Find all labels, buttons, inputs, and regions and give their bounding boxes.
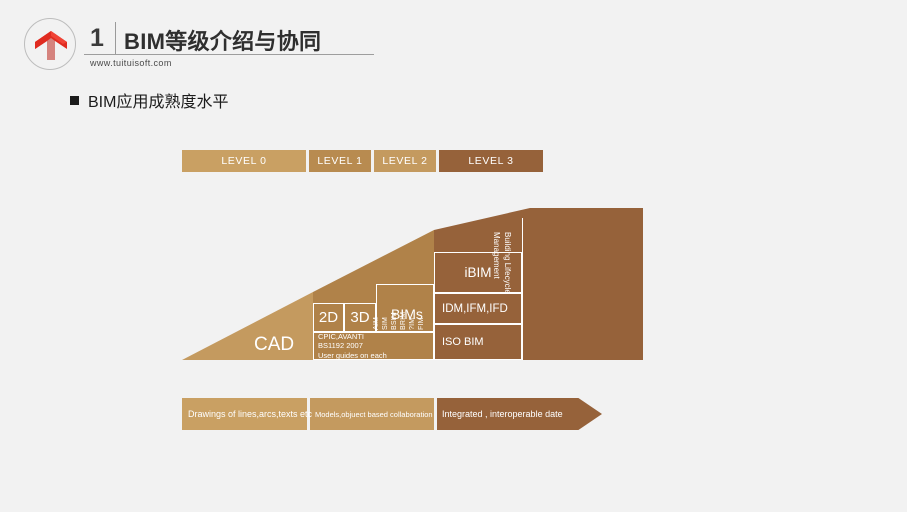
cell-2d[interactable]: 2D xyxy=(313,303,344,332)
progression-arrow: Drawings of lines,arcs,texts etc Models,… xyxy=(182,398,602,430)
notes-line-3: User guides on each xyxy=(318,351,433,360)
header-number: 1 xyxy=(90,24,104,53)
header-rule xyxy=(84,54,374,55)
maturity-ramp-diagram: CAD 2D 3D AIM SIM BSIM BRIM ?IM FIM BIMs… xyxy=(182,208,644,360)
level-bar-0-label: LEVEL 0 xyxy=(221,155,266,167)
building-lifecycle-management-label: Building Lifecycle Management xyxy=(490,232,512,342)
cad-label: CAD xyxy=(254,334,294,356)
header-divider xyxy=(115,22,116,54)
level-bar-2[interactable]: LEVEL 2 xyxy=(374,150,436,172)
blm-line-2: Management xyxy=(490,232,501,342)
arrow-segment-2-label: Integrated , interoperable date xyxy=(442,398,563,430)
level-bar-0[interactable]: LEVEL 0 xyxy=(182,150,306,172)
cell-2d-label: 2D xyxy=(319,309,338,326)
arrow-segment-1-label: Models,objuect based collaboration xyxy=(315,398,433,430)
square-bullet-icon xyxy=(70,96,79,105)
level-bar-1-label: LEVEL 1 xyxy=(317,155,362,167)
level-bar-row: LEVEL 0 LEVEL 1 LEVEL 2 LEVEL 3 xyxy=(182,150,543,172)
cell-standards-notes: CPIC,AVANTI BS1192 2007 User guides on e… xyxy=(313,332,434,360)
section-heading-label: BIM应用成熟度水平 xyxy=(88,88,228,112)
logo-circle xyxy=(24,18,76,70)
level-bar-3-label: LEVEL 3 xyxy=(468,155,513,167)
section-heading-row: BIM应用成熟度水平 xyxy=(70,88,228,112)
notes-line-1: CPIC,AVANTI xyxy=(318,332,433,341)
cell-iso-label: ISO BIM xyxy=(442,336,484,348)
tuitui-arrow-logo-icon xyxy=(25,19,77,71)
blm-divider xyxy=(522,218,523,360)
arrow-segment-0-label: Drawings of lines,arcs,texts etc xyxy=(188,398,312,430)
notes-line-2: BS1192 2007 xyxy=(318,341,433,350)
cell-3d[interactable]: 3D xyxy=(344,303,376,332)
blm-line-1: Building Lifecycle xyxy=(501,232,512,342)
header-url: www.tuituisoft.com xyxy=(90,58,172,68)
level-bar-1[interactable]: LEVEL 1 xyxy=(309,150,371,172)
cell-ibim-label: iBIM xyxy=(465,265,492,280)
bims-word-label: BIMs xyxy=(378,306,436,322)
slide-canvas: 1 BIM等级介绍与协同 www.tuituisoft.com BIM应用成熟度… xyxy=(0,0,907,512)
level-bar-2-label: LEVEL 2 xyxy=(382,155,427,167)
level-bar-3[interactable]: LEVEL 3 xyxy=(439,150,543,172)
page-title: BIM等级介绍与协同 xyxy=(124,24,321,56)
cell-3d-label: 3D xyxy=(350,309,369,326)
